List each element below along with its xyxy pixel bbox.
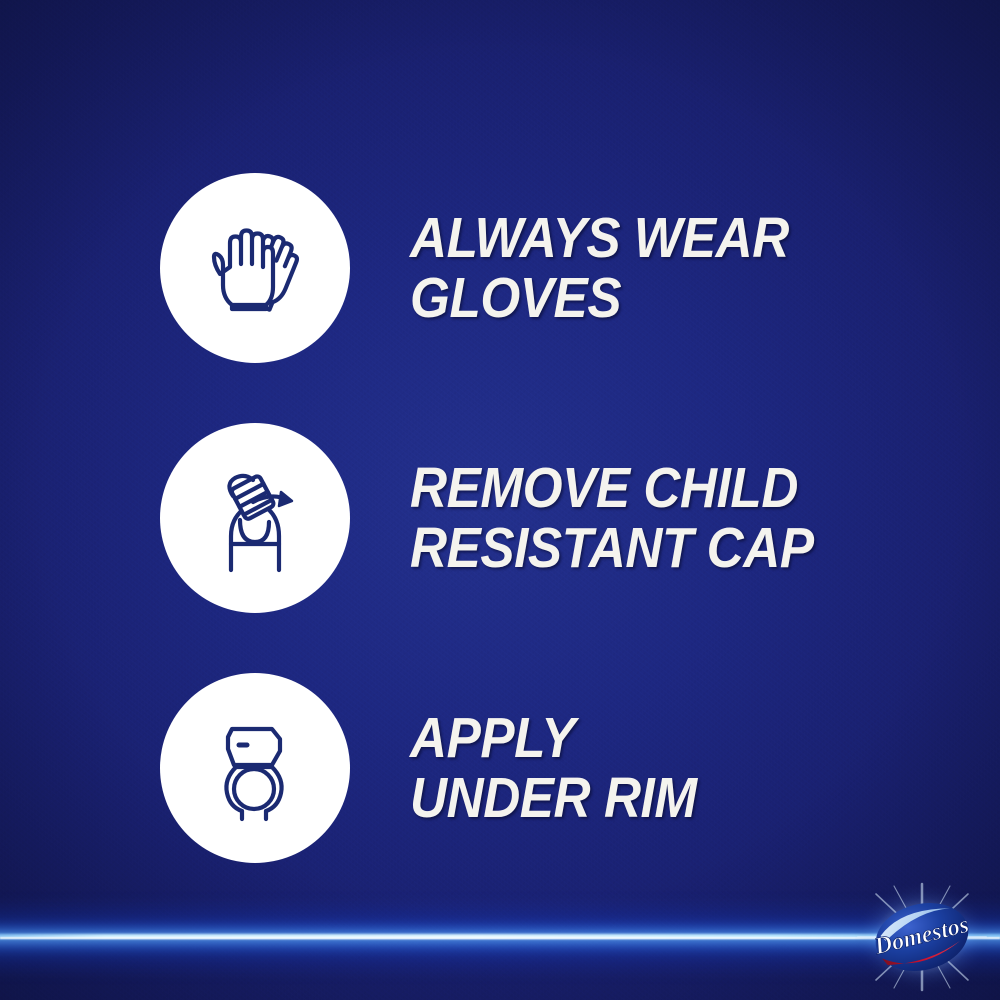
instruction-text-remove-cap: REMOVE CHILD RESISTANT CAP (410, 458, 814, 578)
icon-badge-gloves (160, 173, 350, 363)
icon-badge-apply (160, 673, 350, 863)
instruction-list: ALWAYS WEAR GLOVES (0, 0, 1000, 1000)
domestos-logo: Domestos (852, 880, 992, 995)
twist-cap-icon (195, 458, 315, 578)
instruction-row-gloves: ALWAYS WEAR GLOVES (160, 173, 960, 363)
toilet-icon (196, 709, 314, 827)
instruction-row-remove-cap: REMOVE CHILD RESISTANT CAP (160, 423, 960, 613)
instruction-text-apply: APPLY UNDER RIM (410, 708, 697, 828)
instruction-panel: ALWAYS WEAR GLOVES (0, 0, 1000, 1000)
icon-badge-remove-cap (160, 423, 350, 613)
instruction-row-apply: APPLY UNDER RIM (160, 673, 960, 863)
gloves-icon (196, 209, 314, 327)
instruction-text-gloves: ALWAYS WEAR GLOVES (410, 208, 905, 328)
